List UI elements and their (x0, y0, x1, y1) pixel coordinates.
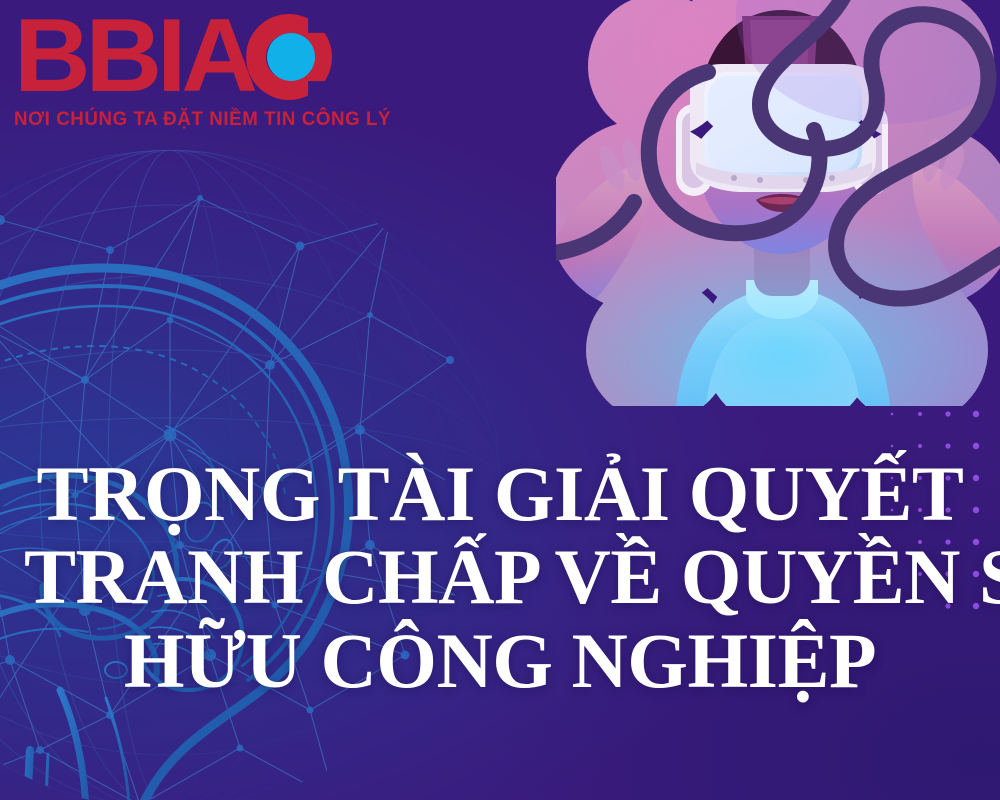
title-line-1: TRỌNG TÀI GIẢI QUYẾT (24, 452, 976, 535)
title-line-2: TRANH CHẤP VỀ QUYỀN SỞ (24, 535, 976, 618)
logo-wordmark-row: BBIA (14, 8, 374, 106)
poster-canvas: BBIA NƠI CHÚNG TA ĐẶT NIỀM TIN CÔNG LÝ T… (0, 0, 1000, 800)
logo-c-mark-icon (246, 14, 332, 100)
vr-photo-blob (556, 0, 1000, 406)
brand-logo[interactable]: BBIA NƠI CHÚNG TA ĐẶT NIỀM TIN CÔNG LÝ (14, 8, 374, 131)
logo-inner-circle (267, 33, 315, 81)
page-title: TRỌNG TÀI GIẢI QUYẾT TRANH CHẤP VỀ QUYỀN… (0, 452, 1000, 702)
logo-tagline: NƠI CHÚNG TA ĐẶT NIỀM TIN CÔNG LÝ (14, 108, 360, 131)
title-line-3: HỮU CÔNG NGHIỆP (24, 619, 976, 702)
logo-wordmark: BBIA (14, 14, 253, 99)
